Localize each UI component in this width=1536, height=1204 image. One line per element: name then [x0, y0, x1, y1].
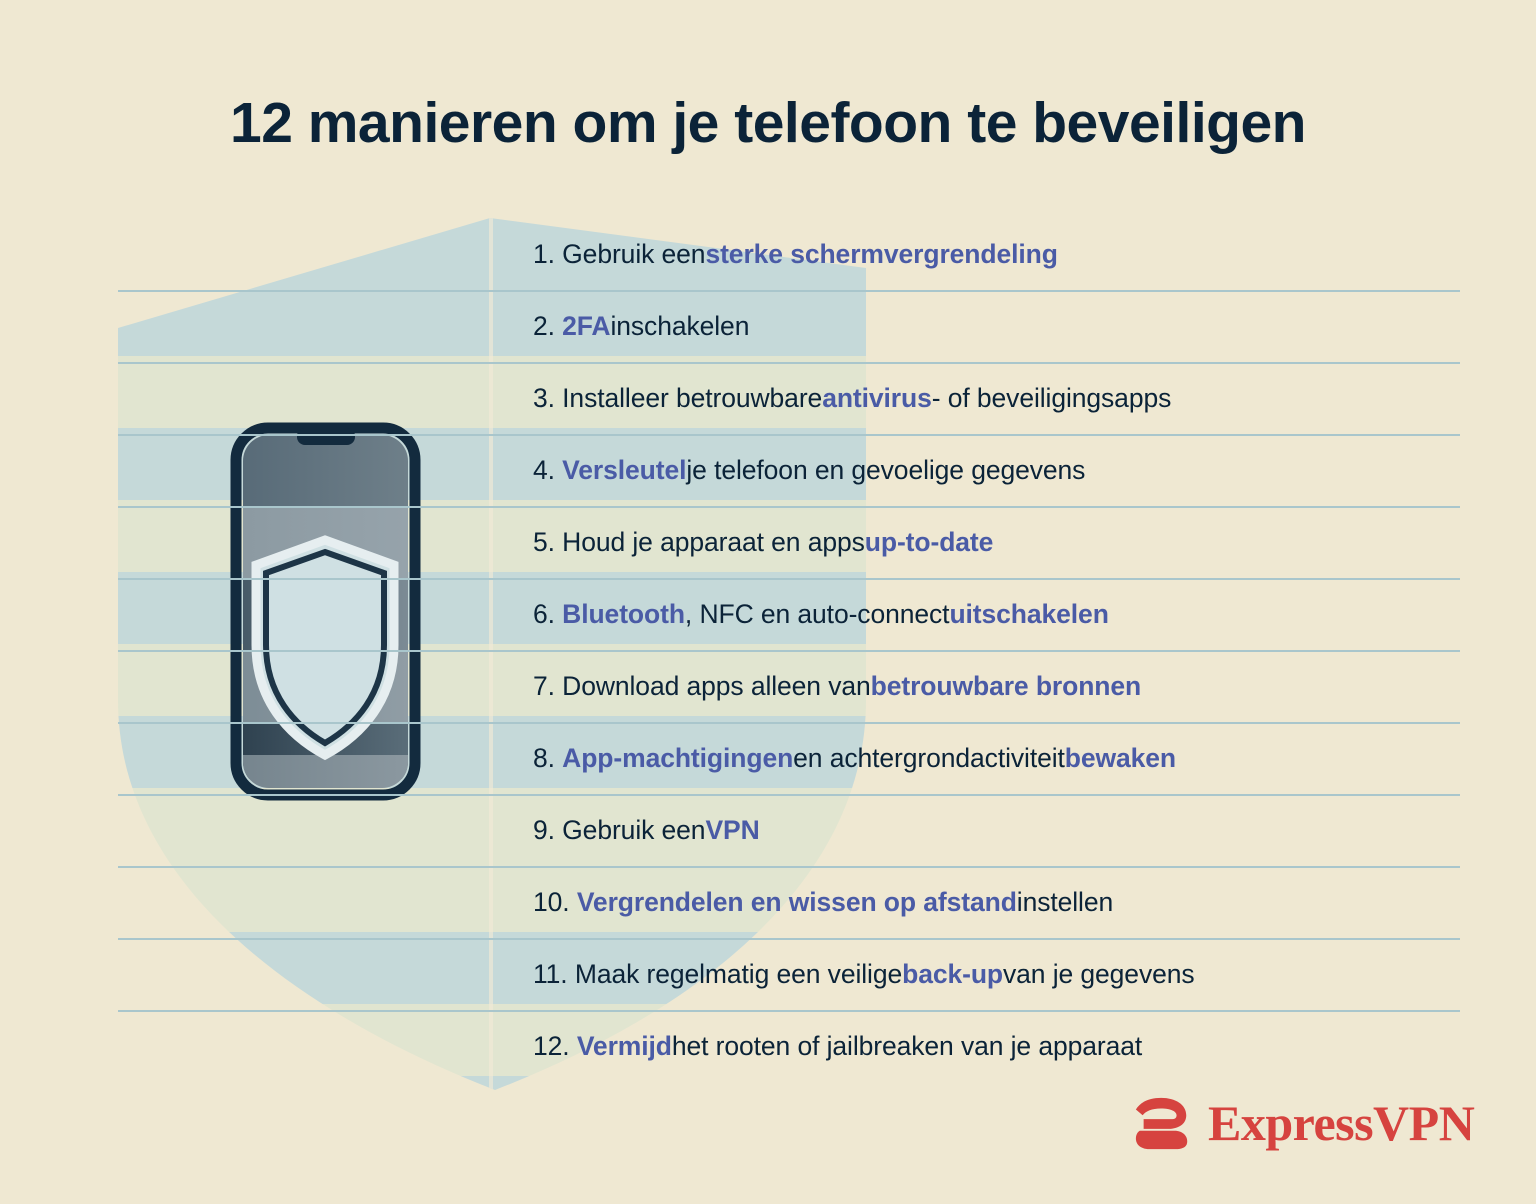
row-divider — [118, 794, 1460, 796]
list-item: 12. Vermijd het rooten of jailbreaken va… — [0, 1010, 1536, 1082]
plain-text: Download apps alleen van — [562, 671, 870, 702]
list-item-text: 6. Bluetooth, NFC en auto-connect uitsch… — [533, 578, 1109, 650]
highlight-term: Bluetooth — [562, 599, 685, 630]
list-item: 3. Installeer betrouwbare antivirus- of … — [0, 362, 1536, 434]
plain-text: en achtergrondactiviteit — [793, 743, 1065, 774]
expressvpn-logo: ExpressVPN — [1132, 1092, 1474, 1154]
plain-text: Installeer betrouwbare — [562, 383, 822, 414]
list-item-number: 1. — [533, 239, 555, 270]
list-item-text: 5. Houd je apparaat en apps up-to-date — [533, 506, 993, 578]
plain-text: Gebruik een — [562, 239, 705, 270]
list-item-number: 4. — [533, 455, 555, 486]
list-item: 2. 2FA inschakelen — [0, 290, 1536, 362]
list-item-number: 8. — [533, 743, 555, 774]
highlight-term: up-to-date — [865, 527, 994, 558]
list-item-number: 5. — [533, 527, 555, 558]
list-item-text: 8. App-machtigingen en achtergrondactivi… — [533, 722, 1176, 794]
plain-text: Maak regelmatig een veilige — [575, 959, 902, 990]
list-item-text: 4. Versleutel je telefoon en gevoelige g… — [533, 434, 1085, 506]
list-item-number: 12. — [533, 1031, 570, 1062]
plain-text: - of beveiligingsapps — [932, 383, 1172, 414]
tips-list: 1. Gebruik een sterke schermvergrendelin… — [0, 0, 1536, 1204]
highlight-term: App-machtigingen — [562, 743, 793, 774]
plain-text: Gebruik een — [562, 815, 705, 846]
highlight-term: Vermijd — [577, 1031, 672, 1062]
expressvpn-e-mark-icon — [1132, 1092, 1194, 1154]
list-item-text: 10. Vergrendelen en wissen op afstand in… — [533, 866, 1113, 938]
plain-text: , NFC en auto-connect — [685, 599, 950, 630]
list-item-text: 2. 2FA inschakelen — [533, 290, 749, 362]
list-item-number: 3. — [533, 383, 555, 414]
highlight-term: Versleutel — [562, 455, 686, 486]
list-item: 9. Gebruik een VPN — [0, 794, 1536, 866]
list-item-text: 3. Installeer betrouwbare antivirus- of … — [533, 362, 1171, 434]
list-item: 7. Download apps alleen van betrouwbare … — [0, 650, 1536, 722]
list-item-text: 9. Gebruik een VPN — [533, 794, 760, 866]
list-item: 10. Vergrendelen en wissen op afstand in… — [0, 866, 1536, 938]
highlight-term: back-up — [902, 959, 1003, 990]
highlight-term: 2FA — [562, 311, 610, 342]
highlight-term: antivirus — [822, 383, 932, 414]
plain-text: Houd je apparaat en apps — [562, 527, 865, 558]
plain-text: inschakelen — [610, 311, 749, 342]
list-item: 6. Bluetooth, NFC en auto-connect uitsch… — [0, 578, 1536, 650]
list-item: 4. Versleutel je telefoon en gevoelige g… — [0, 434, 1536, 506]
expressvpn-wordmark: ExpressVPN — [1208, 1097, 1474, 1149]
list-item: 1. Gebruik een sterke schermvergrendelin… — [0, 218, 1536, 290]
list-item: 5. Houd je apparaat en apps up-to-date — [0, 506, 1536, 578]
list-item-number: 7. — [533, 671, 555, 702]
plain-text: het rooten of jailbreaken van je apparaa… — [672, 1031, 1142, 1062]
list-item-number: 11. — [533, 959, 568, 990]
list-item-number: 2. — [533, 311, 555, 342]
plain-text: instellen — [1017, 887, 1113, 918]
highlight-term: sterke schermvergrendeling — [705, 239, 1057, 270]
highlight-term: betrouwbare bronnen — [871, 671, 1141, 702]
list-item-number: 10. — [533, 887, 570, 918]
list-item: 8. App-machtigingen en achtergrondactivi… — [0, 722, 1536, 794]
list-item: 11. Maak regelmatig een veilige back-up … — [0, 938, 1536, 1010]
infographic-canvas: 12 manieren om je telefoon te beveiligen… — [0, 0, 1536, 1204]
row-divider — [118, 290, 1460, 292]
highlight-term: bewaken — [1065, 743, 1176, 774]
list-item-number: 6. — [533, 599, 555, 630]
list-item-text: 11. Maak regelmatig een veilige back-up … — [533, 938, 1195, 1010]
highlight-term: Vergrendelen en wissen op afstand — [577, 887, 1017, 918]
highlight-term: VPN — [705, 815, 759, 846]
list-item-text: 12. Vermijd het rooten of jailbreaken va… — [533, 1010, 1142, 1082]
list-item-number: 9. — [533, 815, 555, 846]
highlight-term: uitschakelen — [949, 599, 1108, 630]
plain-text: van je gegevens — [1003, 959, 1195, 990]
plain-text: je telefoon en gevoelige gegevens — [686, 455, 1085, 486]
list-item-text: 7. Download apps alleen van betrouwbare … — [533, 650, 1141, 722]
list-item-text: 1. Gebruik een sterke schermvergrendelin… — [533, 218, 1058, 290]
